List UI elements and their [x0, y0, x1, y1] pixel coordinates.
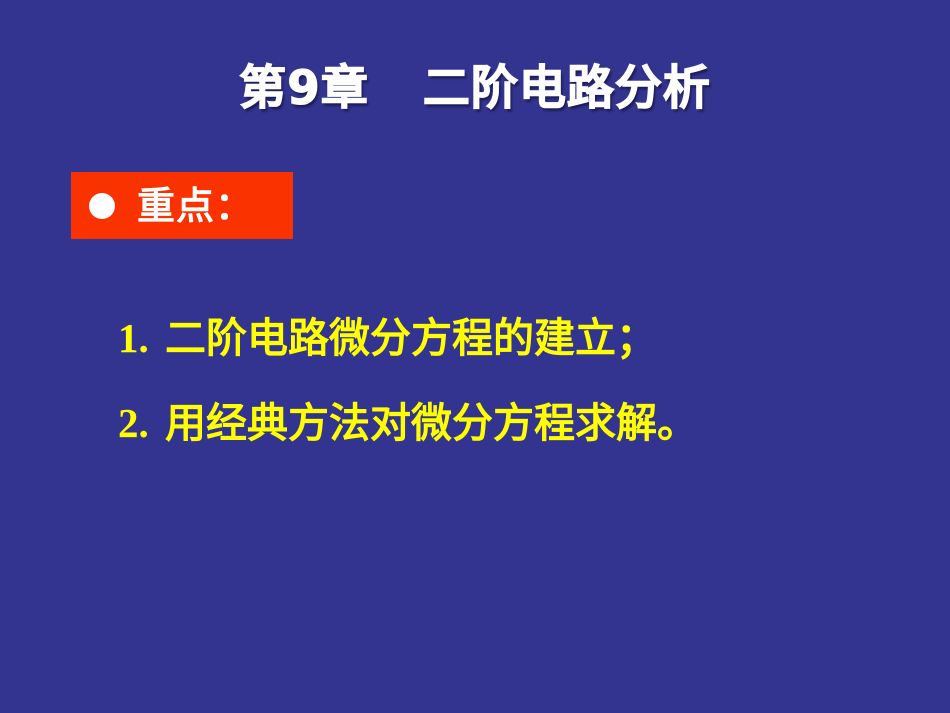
filled-circle-bullet-icon [89, 193, 115, 219]
emphasis-label-text: 重点： [137, 185, 254, 227]
key-points-list: 1.二阶电路微分方程的建立； 2.用经典方法对微分方程求解。 [118, 296, 918, 466]
title-chapter-text: 第9章 [239, 58, 369, 120]
presentation-slide: 第9章 二阶电路分析 重点： 1.二阶电路微分方程的建立； 2.用经典方法对微分… [0, 0, 950, 713]
title-subject-text: 二阶电路分析 [423, 58, 711, 120]
list-item: 1.二阶电路微分方程的建立； [118, 296, 918, 381]
list-item-number: 1. [118, 296, 165, 381]
slide-title: 第9章 二阶电路分析 [0, 58, 950, 120]
emphasis-callout-box: 重点： [71, 172, 293, 239]
list-item: 2.用经典方法对微分方程求解。 [118, 381, 918, 466]
list-item-number: 2. [118, 381, 165, 466]
list-item-label: 用经典方法对微分方程求解。 [165, 381, 698, 466]
list-item-label: 二阶电路微分方程的建立； [165, 296, 657, 381]
